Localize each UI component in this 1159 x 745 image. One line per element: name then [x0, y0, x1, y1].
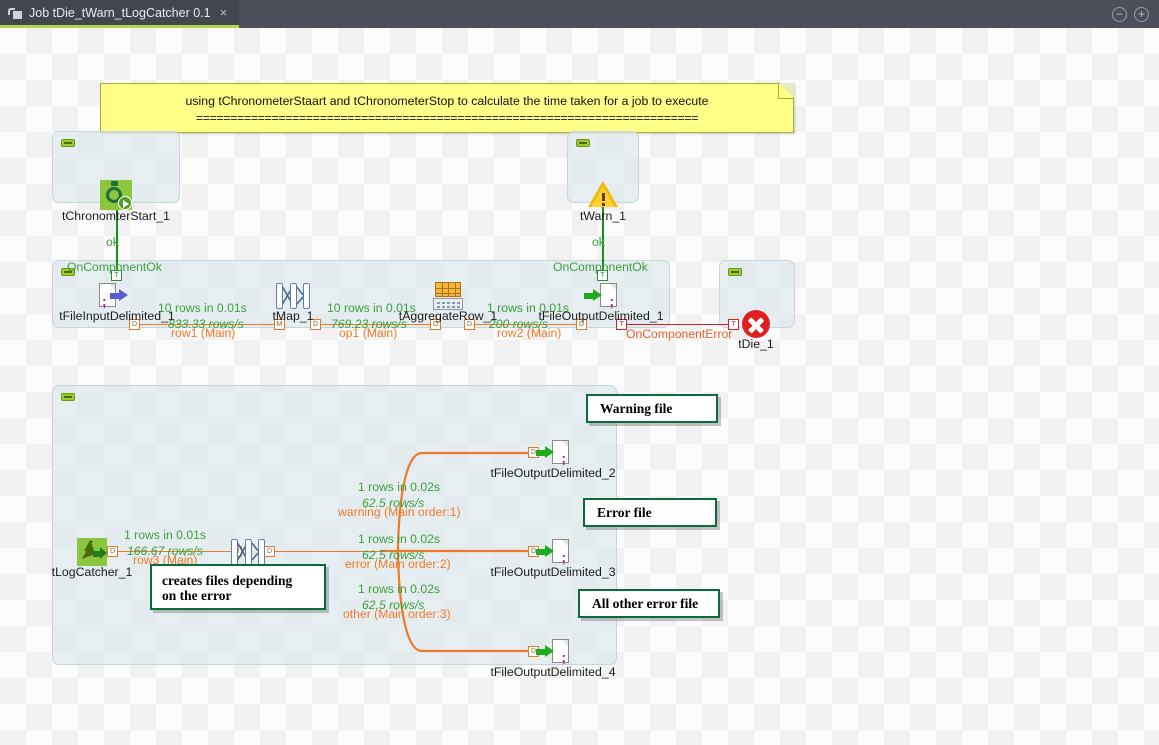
zoom-in-icon[interactable]: +: [1134, 7, 1149, 22]
title-bar: Job tDie_tWarn_tLogCatcher 0.1 × − +: [0, 0, 1159, 28]
annotation-text: Warning file: [600, 401, 672, 416]
component-label: tDie_1: [738, 337, 774, 351]
connection-oncomponenterror[interactable]: [622, 324, 734, 325]
annotation-text: All other error file: [592, 596, 698, 611]
tmap-icon: [276, 283, 310, 309]
link-label-other: other (Main order:3): [343, 607, 451, 621]
subjob-collapse-button[interactable]: [728, 268, 742, 276]
trigger-label-oncomponentok: OnComponentOk: [67, 260, 162, 274]
link-label-row2: row2 (Main): [497, 326, 561, 340]
component-label: tFileOutputDelimited_1: [538, 309, 663, 323]
file-input-icon: ;: [99, 283, 125, 309]
aggregate-row-icon: [433, 282, 463, 310]
link-label-op1: op1 (Main): [339, 326, 397, 340]
subjob-collapse-button[interactable]: [61, 139, 75, 147]
tmap-icon: [231, 539, 265, 565]
annotation-text: Error file: [597, 505, 652, 520]
annotation-text-line-2: on the error: [162, 588, 314, 603]
component-label: tFileOutputDelimited_3: [490, 565, 615, 579]
trigger-label-ok: ok: [106, 235, 119, 249]
file-output-icon: ;: [539, 539, 569, 565]
annotation-warning-file[interactable]: Warning file: [586, 394, 718, 423]
port-label: D: [313, 321, 318, 328]
component-label: tFileOutputDelimited_4: [490, 665, 615, 679]
component-label: tLogCatcher_1: [52, 565, 133, 579]
note-box[interactable]: using tChronometerStaart and tChronomete…: [100, 83, 794, 133]
component-label: tMap_1: [272, 309, 313, 323]
component-label: tWarn_1: [580, 209, 626, 223]
file-output-icon: ;: [587, 283, 617, 309]
trigger-label-oncomponentok: OnComponentOk: [553, 260, 648, 274]
subjob-collapse-button[interactable]: [61, 393, 75, 401]
note-line-2: ========================================…: [101, 110, 793, 127]
component-label: tChronomterStart_1: [62, 209, 170, 223]
port-label: D: [110, 548, 115, 555]
link-label-error: error (Main order:2): [345, 557, 451, 571]
file-output-icon: ;: [539, 639, 569, 665]
link-label-warning: warning (Main order:1): [338, 505, 461, 519]
output-port-tmap2[interactable]: D: [264, 546, 275, 557]
rows-label-other: 1 rows in 0.02s: [358, 582, 440, 596]
job-tab-title: Job tDie_tWarn_tLogCatcher 0.1: [29, 6, 211, 20]
annotation-creates-files[interactable]: creates files depending on the error: [150, 564, 326, 610]
annotation-all-other-error-file[interactable]: All other error file: [578, 589, 720, 618]
component-label: tAggregateRow_1: [399, 309, 497, 323]
file-output-icon: ;: [539, 440, 569, 466]
job-icon: [8, 6, 22, 20]
die-icon: [742, 310, 770, 338]
close-icon[interactable]: ×: [218, 6, 230, 19]
component-label: tFileOutputDelimited_2: [490, 466, 615, 480]
chronometer-icon: [100, 180, 132, 212]
link-label-row1: row1 (Main): [171, 326, 235, 340]
note-line-1: using tChronometerStaart and tChronomete…: [101, 93, 793, 110]
subjob-collapse-button[interactable]: [576, 139, 590, 147]
port-label: D: [267, 548, 272, 555]
rows-label-warning: 1 rows in 0.02s: [358, 480, 440, 494]
annotation-text-line-1: creates files depending: [162, 573, 314, 588]
zoom-out-icon[interactable]: −: [1112, 7, 1127, 22]
rows-label-error: 1 rows in 0.02s: [358, 532, 440, 546]
annotation-error-file[interactable]: Error file: [583, 498, 717, 527]
trigger-label-ok: ok: [592, 235, 605, 249]
log-catcher-icon: [77, 538, 107, 566]
rows-label-row3: 1 rows in 0.01s: [124, 528, 206, 542]
job-canvas[interactable]: using tChronometerStaart and tChronomete…: [0, 28, 1159, 745]
talend-job-designer: Job tDie_tWarn_tLogCatcher 0.1 × − + usi…: [0, 0, 1159, 745]
output-port-logcatcher[interactable]: D: [107, 546, 118, 557]
job-tab[interactable]: Job tDie_tWarn_tLogCatcher 0.1 ×: [0, 0, 239, 28]
component-label: tFileInputDelimited_1: [59, 309, 175, 323]
link-label-oncomponenterror: OnComponentError: [626, 327, 732, 341]
